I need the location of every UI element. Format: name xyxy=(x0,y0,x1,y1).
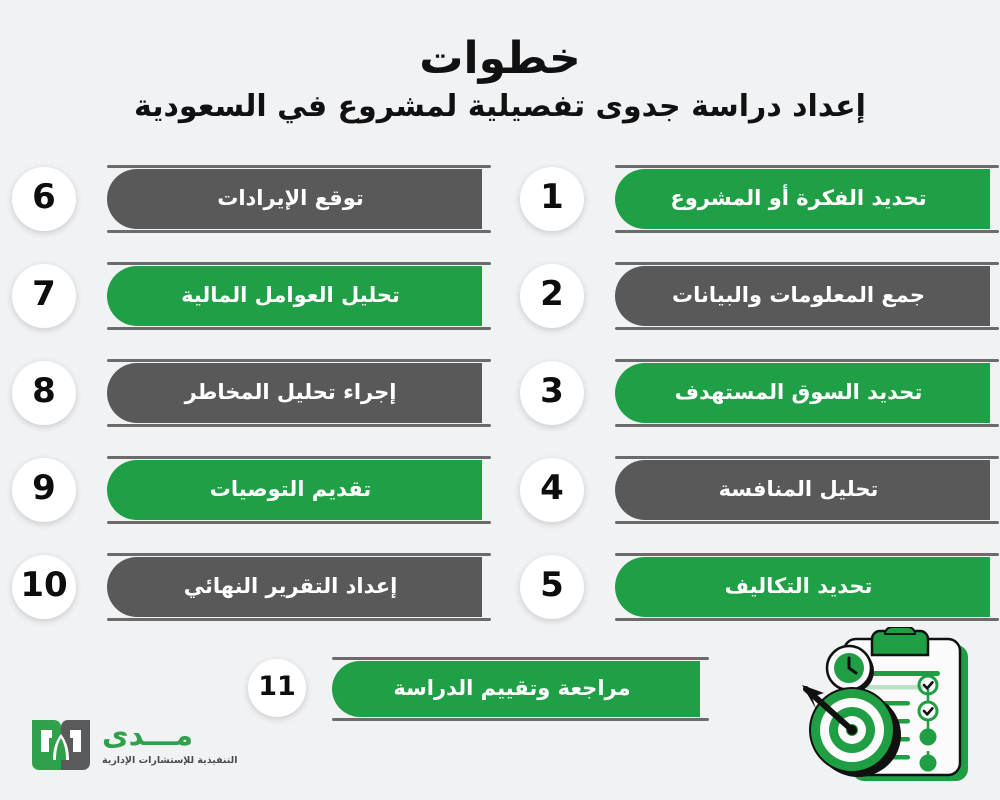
clipboard-checklist-target-clock-icon xyxy=(794,627,984,792)
step-rail-bottom xyxy=(615,424,999,427)
page-title: خطوات xyxy=(0,34,1000,83)
step-row[interactable]: تحليل المنافسة4 xyxy=(520,451,990,529)
step-number-badge[interactable]: 8 xyxy=(12,361,76,425)
step-number: 2 xyxy=(540,277,564,311)
step-rail-top xyxy=(107,456,491,459)
step-row[interactable]: تحديد السوق المستهدف3 xyxy=(520,354,990,432)
step-number: 3 xyxy=(540,374,564,408)
step-rail-top xyxy=(615,553,999,556)
step-label: إجراء تحليل المخاطر xyxy=(185,382,397,403)
steps-container: تحديد الفكرة أو المشروع1جمع المعلومات وا… xyxy=(0,160,1000,620)
step-label: توقع الإيرادات xyxy=(217,188,364,209)
step-row[interactable]: تحديد التكاليف5 xyxy=(520,548,990,626)
step-number-badge[interactable]: 6 xyxy=(12,167,76,231)
step-bar[interactable]: إعداد التقرير النهائي xyxy=(107,557,482,617)
step-number-badge[interactable]: 3 xyxy=(520,361,584,425)
step-rail-bottom xyxy=(615,618,999,621)
step-number: 7 xyxy=(32,277,56,311)
step-rail-bottom xyxy=(332,718,709,721)
step-label: إعداد التقرير النهائي xyxy=(184,576,398,597)
step-rail-top xyxy=(615,262,999,265)
step-bar[interactable]: تحديد الفكرة أو المشروع xyxy=(615,169,990,229)
step-rail-top xyxy=(107,262,491,265)
step-bar[interactable]: تقديم التوصيات xyxy=(107,460,482,520)
step-rail-bottom xyxy=(107,327,491,330)
step-rail-top xyxy=(615,165,999,168)
page-header: خطوات إعداد دراسة جدوى تفصيلية لمشروع في… xyxy=(0,34,1000,126)
step-bar[interactable]: تحليل المنافسة xyxy=(615,460,990,520)
step-row[interactable]: تحليل العوامل المالية7 xyxy=(12,257,482,335)
step-bar[interactable]: مراجعة وتقييم الدراسة xyxy=(332,661,700,717)
step-rail-bottom xyxy=(107,230,491,233)
page-subtitle: إعداد دراسة جدوى تفصيلية لمشروع في السعو… xyxy=(0,87,1000,126)
step-row[interactable]: تقديم التوصيات9 xyxy=(12,451,482,529)
step-row-final[interactable]: مراجعة وتقييم الدراسة11 xyxy=(248,650,700,728)
step-row[interactable]: توقع الإيرادات6 xyxy=(12,160,482,238)
step-number-badge[interactable]: 9 xyxy=(12,458,76,522)
step-number: 9 xyxy=(32,471,56,505)
step-bar[interactable]: تحديد التكاليف xyxy=(615,557,990,617)
step-bar[interactable]: توقع الإيرادات xyxy=(107,169,482,229)
step-label: تحليل العوامل المالية xyxy=(181,285,400,306)
step-number: 5 xyxy=(540,568,564,602)
step-label: تحديد الفكرة أو المشروع xyxy=(670,188,926,209)
step-rail-bottom xyxy=(107,618,491,621)
logo-wordmark: مـــدى xyxy=(102,721,193,750)
step-label: تقديم التوصيات xyxy=(210,479,371,500)
step-number: 10 xyxy=(20,568,67,602)
step-rail-bottom xyxy=(615,521,999,524)
logo-mark-icon xyxy=(30,714,92,772)
step-rail-top xyxy=(107,359,491,362)
step-number-badge[interactable]: 7 xyxy=(12,264,76,328)
step-label: جمع المعلومات والبيانات xyxy=(672,285,925,306)
step-number-badge[interactable]: 5 xyxy=(520,555,584,619)
brand-logo: مـــدى التنفيذية للإستشارات الإدارية xyxy=(30,708,240,778)
step-rail-top xyxy=(615,359,999,362)
step-row[interactable]: إجراء تحليل المخاطر8 xyxy=(12,354,482,432)
step-rail-top xyxy=(332,657,709,660)
step-label: مراجعة وتقييم الدراسة xyxy=(393,678,630,699)
step-row[interactable]: إعداد التقرير النهائي10 xyxy=(12,548,482,626)
step-label: تحديد التكاليف xyxy=(725,576,873,597)
step-number-badge[interactable]: 1 xyxy=(520,167,584,231)
step-rail-bottom xyxy=(107,521,491,524)
step-number-badge[interactable]: 4 xyxy=(520,458,584,522)
step-number: 8 xyxy=(32,374,56,408)
step-bar[interactable]: تحديد السوق المستهدف xyxy=(615,363,990,423)
step-number: 1 xyxy=(540,180,564,214)
step-bar[interactable]: تحليل العوامل المالية xyxy=(107,266,482,326)
step-number: 6 xyxy=(32,180,56,214)
step-label: تحليل المنافسة xyxy=(719,479,879,500)
step-number: 4 xyxy=(540,471,564,505)
step-number: 11 xyxy=(258,673,296,700)
logo-tagline: التنفيذية للإستشارات الإدارية xyxy=(102,756,238,766)
step-rail-top xyxy=(107,165,491,168)
steps-column-left: توقع الإيرادات6تحليل العوامل المالية7إجر… xyxy=(12,160,482,620)
step-rail-top xyxy=(107,553,491,556)
step-label: تحديد السوق المستهدف xyxy=(675,382,923,403)
step-rail-top xyxy=(615,456,999,459)
step-row[interactable]: جمع المعلومات والبيانات2 xyxy=(520,257,990,335)
step-bar[interactable]: جمع المعلومات والبيانات xyxy=(615,266,990,326)
step-rail-bottom xyxy=(615,230,999,233)
logo-text-block: مـــدى التنفيذية للإستشارات الإدارية xyxy=(102,721,238,766)
step-rail-bottom xyxy=(107,424,491,427)
steps-column-right: تحديد الفكرة أو المشروع1جمع المعلومات وا… xyxy=(520,160,990,620)
step-rail-bottom xyxy=(615,327,999,330)
step-number-badge[interactable]: 2 xyxy=(520,264,584,328)
step-number-badge[interactable]: 10 xyxy=(12,555,76,619)
step-number-badge[interactable]: 11 xyxy=(248,659,306,717)
step-row[interactable]: تحديد الفكرة أو المشروع1 xyxy=(520,160,990,238)
step-bar[interactable]: إجراء تحليل المخاطر xyxy=(107,363,482,423)
